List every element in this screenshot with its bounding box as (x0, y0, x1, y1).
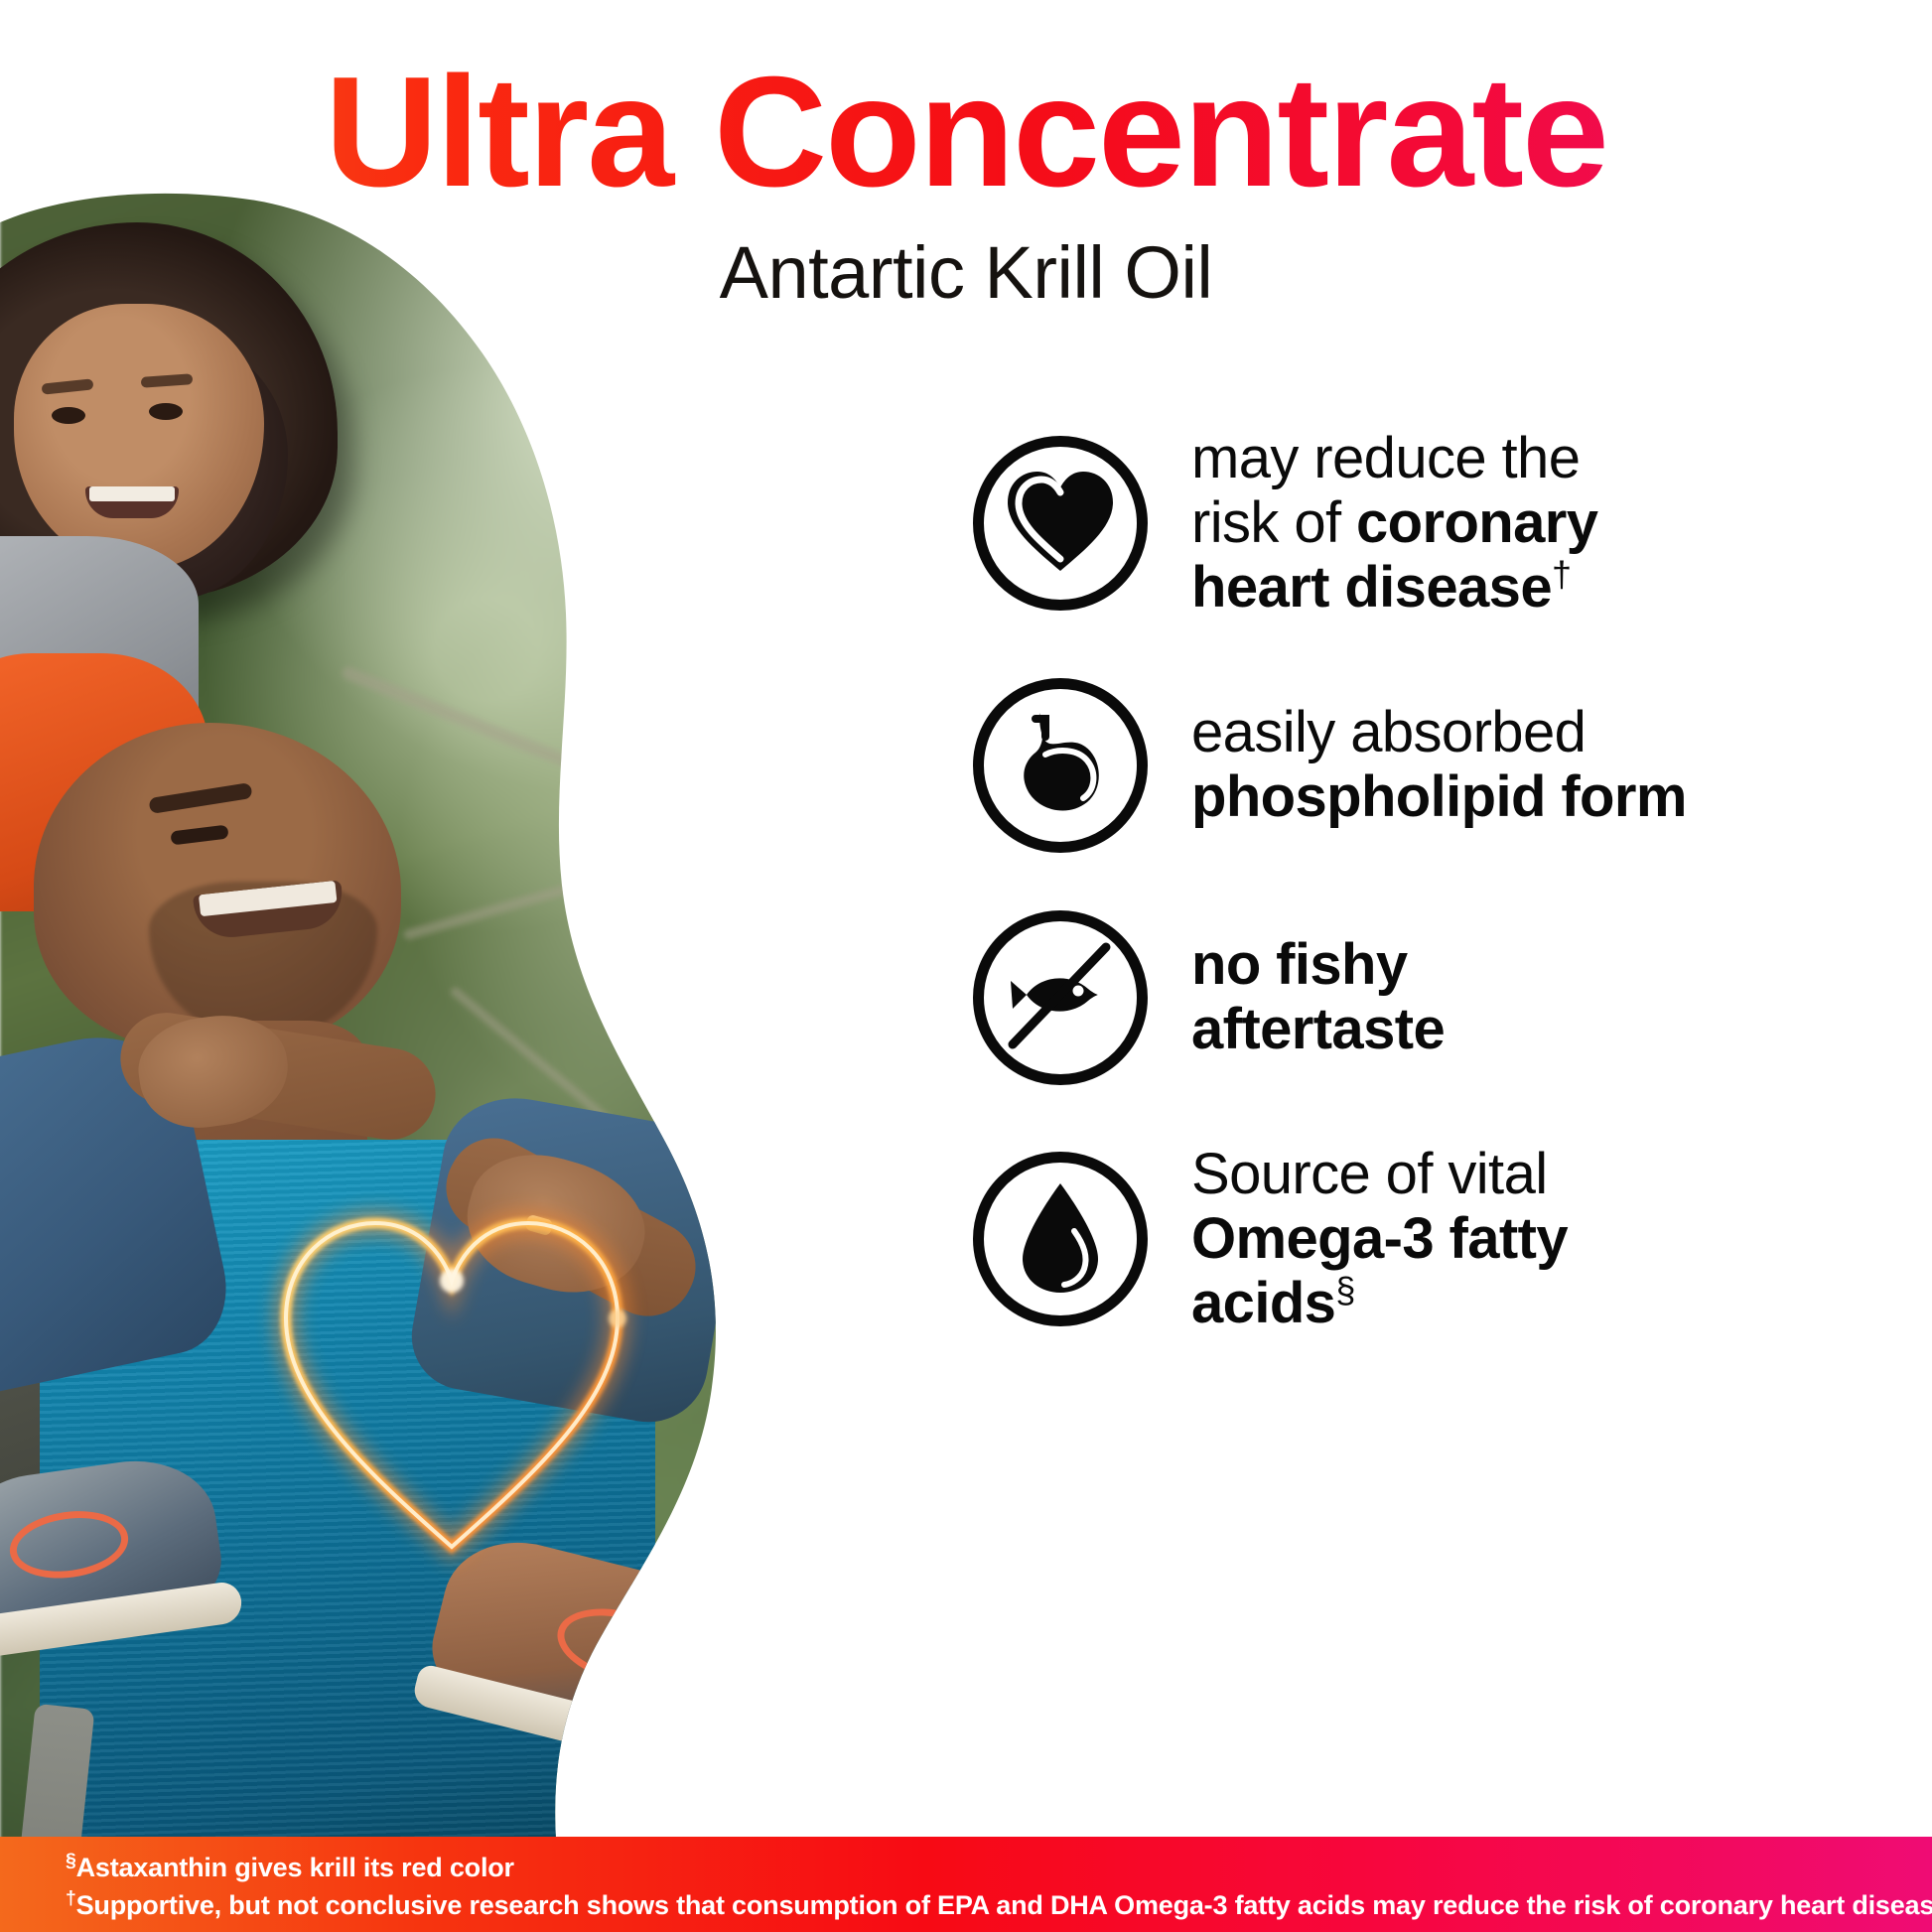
stomach-icon-badge (973, 678, 1148, 853)
header: Ultra Concentrate Antartic Krill Oil (0, 0, 1932, 310)
droplet-icon (1015, 1177, 1106, 1302)
footnote-marker-section: § (66, 1850, 76, 1871)
benefit-text: easily absorbed phospholipid form (1191, 701, 1687, 830)
benefit-line-2-bold: aftertaste (1191, 997, 1445, 1061)
benefit-line-2-bold: phospholipid form (1191, 764, 1687, 829)
hero-photo (0, 187, 784, 1840)
benefit-line-1: easily absorbed (1191, 700, 1586, 764)
benefit-line-3-bold: heart disease (1191, 555, 1552, 620)
footnote-marker-section: § (1335, 1269, 1354, 1310)
benefit-item-omega-3: Source of vital Omega-3 fatty acids§ (973, 1143, 1896, 1336)
benefit-item-absorption: easily absorbed phospholipid form (973, 678, 1896, 853)
footnote-line-1: §Astaxanthin gives krill its red color (66, 1849, 1932, 1886)
heart-icon (1002, 468, 1119, 580)
page-subtitle: Antartic Krill Oil (0, 236, 1932, 310)
child-eye-right (149, 403, 183, 420)
child-eye-left (52, 407, 85, 424)
heart-icon-badge (973, 436, 1148, 611)
footnote-banner: §Astaxanthin gives krill its red color †… (0, 1837, 1932, 1932)
no-fish-icon-badge (973, 910, 1148, 1085)
benefit-line-1: may reduce the (1191, 426, 1580, 490)
footnote-marker-dagger: † (66, 1887, 76, 1909)
benefit-item-no-fishy-aftertaste: no fishy aftertaste (973, 910, 1896, 1085)
benefit-text: may reduce the risk of coronary heart di… (1191, 427, 1597, 621)
no-fish-icon (997, 931, 1124, 1063)
footnote-line-1-text: Astaxanthin gives krill its red color (76, 1853, 514, 1882)
hero-photo-artwork (0, 187, 784, 1840)
benefits-list: may reduce the risk of coronary heart di… (973, 427, 1896, 1394)
child-mouth (85, 486, 179, 518)
benefit-item-heart-health: may reduce the risk of coronary heart di… (973, 427, 1896, 621)
stomach-icon (1006, 707, 1115, 823)
child-shoe-left (0, 1450, 228, 1644)
benefit-line-1: Source of vital (1191, 1142, 1548, 1206)
benefit-line-2-bold: coronary (1356, 490, 1597, 555)
benefit-text: Source of vital Omega-3 fatty acids§ (1191, 1143, 1568, 1336)
benefit-line-2-bold: Omega-3 fatty (1191, 1206, 1568, 1271)
benefit-line-2-plain: risk of (1191, 490, 1356, 555)
footnote-line-2-text: Supportive, but not conclusive research … (76, 1890, 1932, 1920)
droplet-icon-badge (973, 1152, 1148, 1326)
benefit-line-1-bold: no fishy (1191, 932, 1408, 997)
footnote-line-2: †Supportive, but not conclusive research… (66, 1886, 1932, 1924)
benefit-line-3-bold: acids (1191, 1271, 1335, 1335)
page-title: Ultra Concentrate (0, 0, 1932, 210)
benefit-text: no fishy aftertaste (1191, 933, 1445, 1062)
footnote-marker-dagger: † (1552, 554, 1571, 595)
